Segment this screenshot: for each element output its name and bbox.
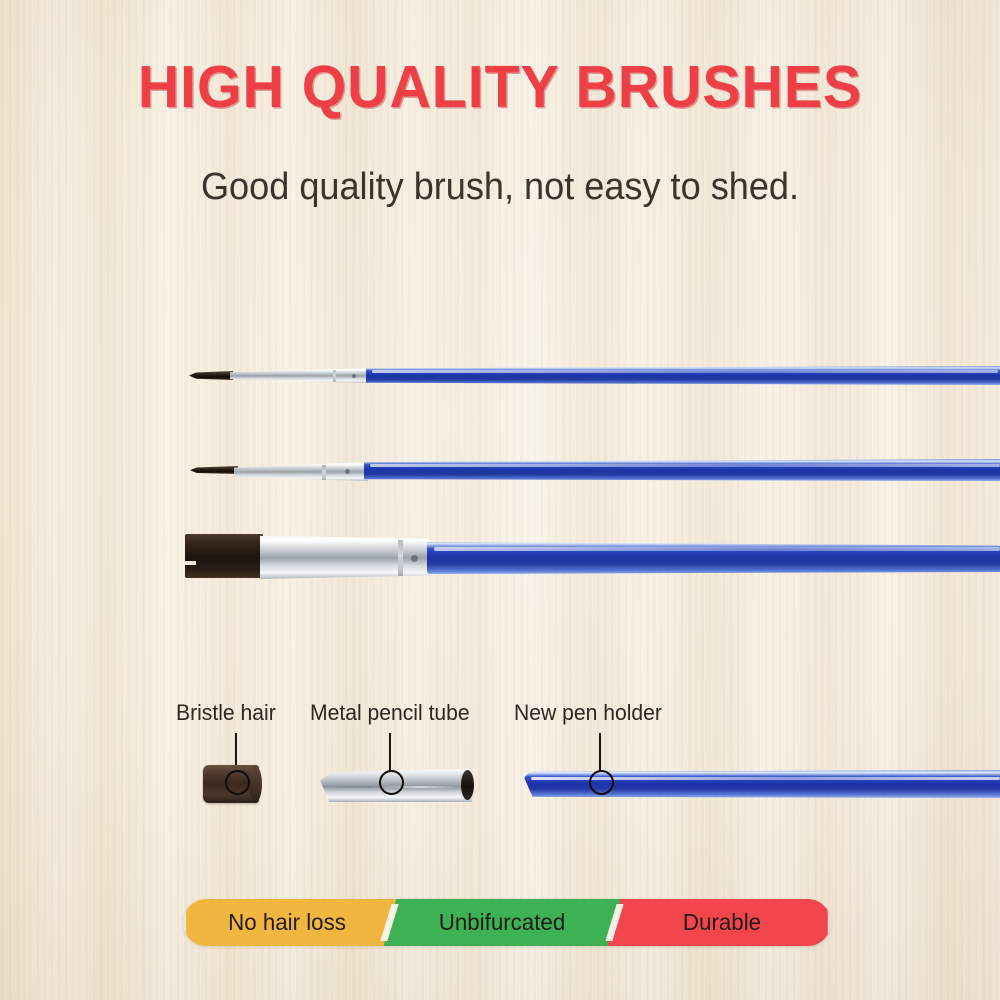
marker-metal-tube [379,770,404,795]
page-title: HIGH QUALITY BRUSHES [15,56,985,118]
feature-badge-bar: No hair loss Unbifurcated Durable [183,899,831,946]
brush-3-ferrule-dot [411,555,418,562]
feature-badge-durable: Durable [616,899,827,946]
brush-1-handle [366,366,1000,385]
feature-badge-unbifurcated-label: Unbifurcated [439,909,566,936]
callout-label-bristle-hair: Bristle hair [176,700,276,726]
feature-badge-unbifurcated: Unbifurcated [394,899,609,946]
leader-line-metal-tube [389,733,391,771]
callout-label-metal-pencil-tube: Metal pencil tube [310,700,470,726]
brush-3-handle-highlight [434,547,1000,551]
brush-2-handle-highlight [370,464,1000,467]
brush-1-ferrule-band-1 [333,370,336,382]
brush-2-handle [364,459,1000,481]
brush-3-ferrule-band-1 [398,540,403,576]
page-subtitle: Good quality brush, not easy to shed. [25,163,975,211]
brush-3-head-notch [185,561,196,565]
brush-2-ferrule-dot [345,469,350,474]
product-infographic: HIGH QUALITY BRUSHES Good quality brush,… [0,0,1000,1000]
callout-label-new-pen-holder: New pen holder [514,700,662,726]
brush-3-handle [427,540,1000,574]
part-bristle-hair-end-cap [249,766,262,802]
background-vignette [0,0,1000,1000]
marker-pen-holder [589,770,614,795]
brush-1-handle-highlight [372,370,998,373]
brush-2-ferrule-band-1 [322,465,326,480]
brush-1-ferrule-dot [352,374,356,378]
part-metal-tube-opening [461,770,474,800]
feature-badge-durable-label: Durable [683,909,761,936]
brush-3-flat-head-icon [185,534,263,578]
brush-3-ferrule [260,535,430,579]
marker-bristle-hair [225,770,250,795]
feature-badge-no-hair-loss-label: No hair loss [228,909,346,936]
feature-badge-no-hair-loss: No hair loss [186,899,388,946]
leader-line-pen-holder [599,733,601,771]
